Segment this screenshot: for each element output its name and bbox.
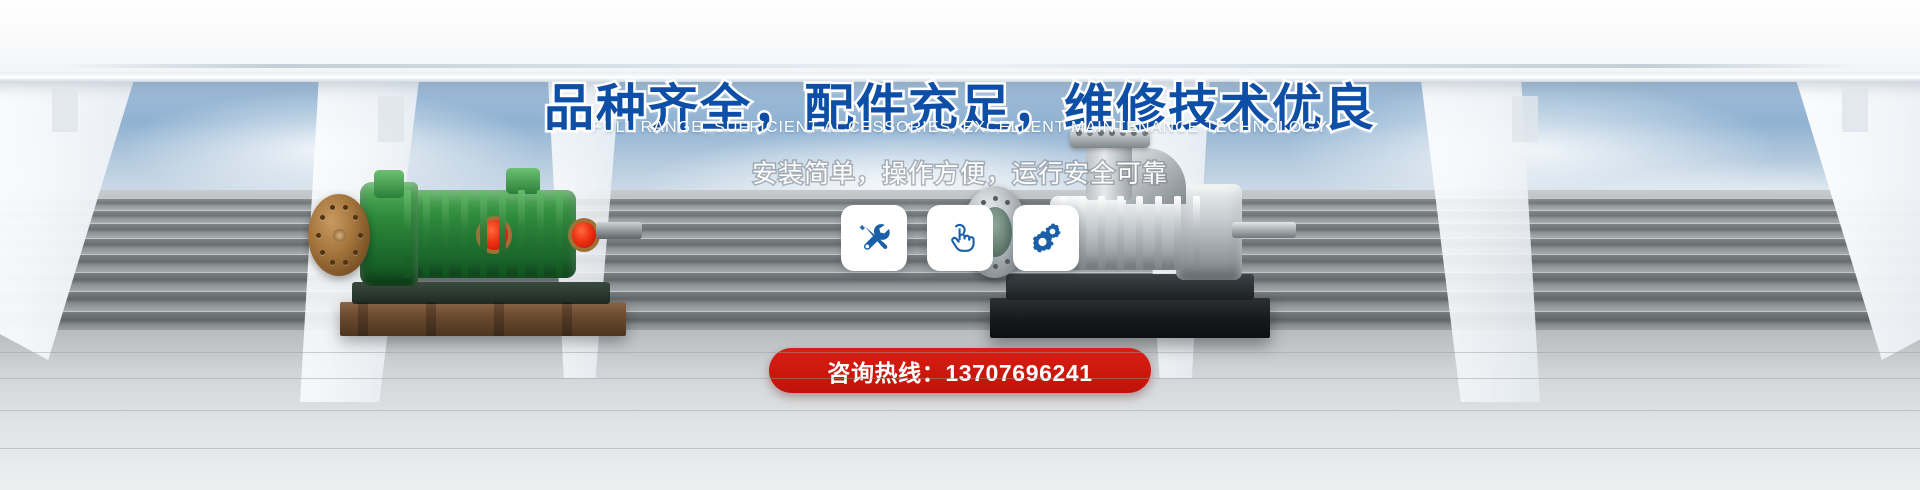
feature-tile-maintenance[interactable] [841, 205, 907, 271]
banner-subtitle-english: FULL RANGE, SUFFICIENT ACCESSORIES, EXCE… [0, 119, 1920, 137]
tools-icon [856, 220, 892, 256]
hotline-text: 咨询热线：13707696241 [827, 354, 1092, 388]
floor-seam [0, 410, 1920, 411]
feature-icon-row [0, 205, 1920, 271]
hotline-button[interactable]: 咨询热线：13707696241 [769, 348, 1151, 393]
floor-seam [0, 352, 1920, 353]
floor-seam [0, 378, 1920, 379]
tap-hand-icon [942, 220, 978, 256]
promo-banner: 品种齐全，配件充足，维修技术优良 FULL RANGE, SUFFICIENT … [0, 0, 1920, 490]
feature-tile-easy-operation[interactable] [927, 205, 993, 271]
floor-seam [0, 448, 1920, 449]
banner-subtitle-chinese: 安装简单，操作方便，运行安全可靠 [0, 154, 1920, 190]
gears-icon [1028, 220, 1064, 256]
banner-content: 品种齐全，配件充足，维修技术优良 FULL RANGE, SUFFICIENT … [0, 0, 1920, 490]
feature-tile-reliable-running[interactable] [1013, 205, 1079, 271]
